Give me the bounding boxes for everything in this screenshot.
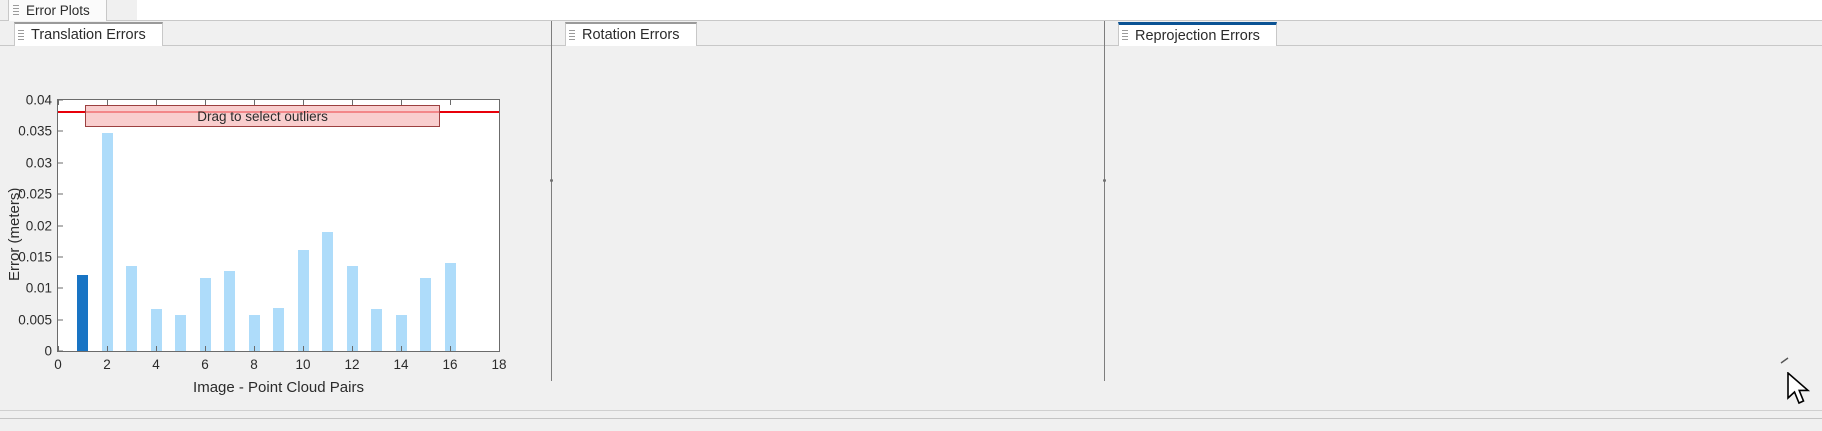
x-tick-mark: [107, 346, 108, 351]
panel-splitter-1[interactable]: [551, 21, 552, 381]
panel-1-plot-area: Drag to select outliers 00.0050.010.0150…: [0, 46, 551, 410]
tab-rotation-errors-label: Rotation Errors: [578, 27, 680, 43]
x-tick-mark-top: [254, 100, 255, 105]
y-tick-mark: [58, 162, 63, 163]
y-tick-mark: [58, 256, 63, 257]
bar[interactable]: [322, 232, 333, 351]
panel-2-tabstrip: Rotation Errors: [551, 21, 1104, 46]
y-tick-label: 0.015: [18, 249, 52, 264]
grip-handle-icon[interactable]: [18, 29, 24, 42]
window-bottom-band: [0, 410, 1822, 431]
document-tab-error-plots[interactable]: Error Plots: [8, 0, 107, 21]
x-tick-mark: [450, 346, 451, 351]
document-tabbar: Error Plots: [0, 0, 1822, 21]
x-tick-mark: [499, 346, 500, 351]
x-tick-mark-top: [156, 100, 157, 105]
x-tick-mark: [352, 346, 353, 351]
x-tick-mark-top: [401, 100, 402, 105]
x-tick-mark-top: [58, 100, 59, 105]
y-tick-label: 0.01: [26, 281, 52, 296]
panel-splitter-2[interactable]: [1104, 21, 1105, 381]
panel-reprojection-errors: Reprojection Errors Drag to select outli…: [1104, 21, 1822, 410]
y-tick-label: 0: [44, 344, 52, 359]
error-plots-window: Error Plots Translation Errors Drag to s…: [0, 0, 1822, 430]
y-tick-mark: [58, 131, 63, 132]
bar[interactable]: [151, 309, 162, 351]
tab-translation-errors[interactable]: Translation Errors: [14, 22, 163, 46]
x-tick-mark-top: [499, 100, 500, 105]
bar[interactable]: [445, 263, 456, 351]
x-tick-label: 10: [295, 357, 310, 372]
bar[interactable]: [420, 278, 431, 351]
x-tick-mark-top: [107, 100, 108, 105]
x-tick-label: 2: [103, 357, 111, 372]
bar[interactable]: [298, 250, 309, 351]
tab-translation-errors-label: Translation Errors: [27, 27, 146, 43]
bottom-rule: [0, 418, 1822, 419]
x-tick-label: 16: [442, 357, 457, 372]
bar[interactable]: [273, 308, 284, 351]
y-tick-label: 0.025: [18, 187, 52, 202]
x-tick-label: 4: [152, 357, 160, 372]
x-tick-mark-top: [450, 100, 451, 105]
grip-handle-icon[interactable]: [13, 4, 19, 17]
drag-to-select-outliers-box[interactable]: Drag to select outliers: [85, 105, 440, 127]
y-tick-mark: [58, 288, 63, 289]
panel-3-tabstrip: Reprojection Errors: [1104, 21, 1822, 46]
y-tick-label: 0.005: [18, 312, 52, 327]
tab-rotation-errors[interactable]: Rotation Errors: [565, 22, 697, 46]
bar[interactable]: [200, 278, 211, 351]
bar[interactable]: [347, 266, 358, 351]
plot-panels: Translation Errors Drag to select outlie…: [0, 21, 1822, 410]
panel-2-plot-area: Drag to select outliers 00.511.522.533.5…: [551, 46, 1104, 410]
panel-3-plot-area: Drag to select outliers 0123456780246810…: [1104, 46, 1822, 410]
x-tick-mark-top: [303, 100, 304, 105]
x-tick-mark: [254, 346, 255, 351]
splitter-grip-dot: [1103, 179, 1106, 182]
y-tick-label: 0.035: [18, 124, 52, 139]
x-tick-label: 8: [250, 357, 258, 372]
panel-1-tabstrip: Translation Errors: [0, 21, 551, 46]
y-tick-mark: [58, 225, 63, 226]
x-axis-label: Image - Point Cloud Pairs: [58, 379, 499, 396]
tab-reprojection-errors[interactable]: Reprojection Errors: [1118, 22, 1277, 46]
x-tick-mark: [401, 346, 402, 351]
bar[interactable]: [77, 275, 88, 351]
x-tick-mark: [205, 346, 206, 351]
chart-translation-errors[interactable]: Drag to select outliers 00.0050.010.0150…: [57, 99, 500, 352]
bar[interactable]: [224, 271, 235, 351]
grip-handle-icon[interactable]: [1122, 29, 1128, 42]
document-tabbar-filler: [137, 0, 1822, 21]
chart-translation-errors-bars: Drag to select outliers: [58, 100, 499, 351]
x-tick-label: 6: [201, 357, 209, 372]
splitter-grip-dot: [550, 179, 553, 182]
bar[interactable]: [102, 133, 113, 351]
x-tick-mark: [58, 346, 59, 351]
tab-reprojection-errors-label: Reprojection Errors: [1131, 28, 1260, 44]
x-tick-label: 14: [393, 357, 408, 372]
x-tick-mark: [156, 346, 157, 351]
panel-translation-errors: Translation Errors Drag to select outlie…: [0, 21, 551, 410]
y-tick-label: 0.02: [26, 218, 52, 233]
bar[interactable]: [371, 309, 382, 351]
y-axis-label: Error (meters): [6, 187, 23, 280]
x-tick-label: 12: [344, 357, 359, 372]
x-tick-mark-top: [205, 100, 206, 105]
document-tab-label: Error Plots: [23, 3, 90, 18]
y-tick-label: 0.04: [26, 93, 52, 108]
y-tick-mark: [58, 319, 63, 320]
x-tick-mark: [303, 346, 304, 351]
y-tick-mark: [58, 194, 63, 195]
x-tick-mark-top: [352, 100, 353, 105]
bar[interactable]: [126, 266, 137, 351]
panel-rotation-errors: Rotation Errors Drag to select outliers …: [551, 21, 1104, 410]
bar[interactable]: [175, 315, 186, 351]
grip-handle-icon[interactable]: [569, 29, 575, 42]
x-tick-label: 0: [54, 357, 62, 372]
x-tick-label: 18: [491, 357, 506, 372]
y-tick-label: 0.03: [26, 155, 52, 170]
